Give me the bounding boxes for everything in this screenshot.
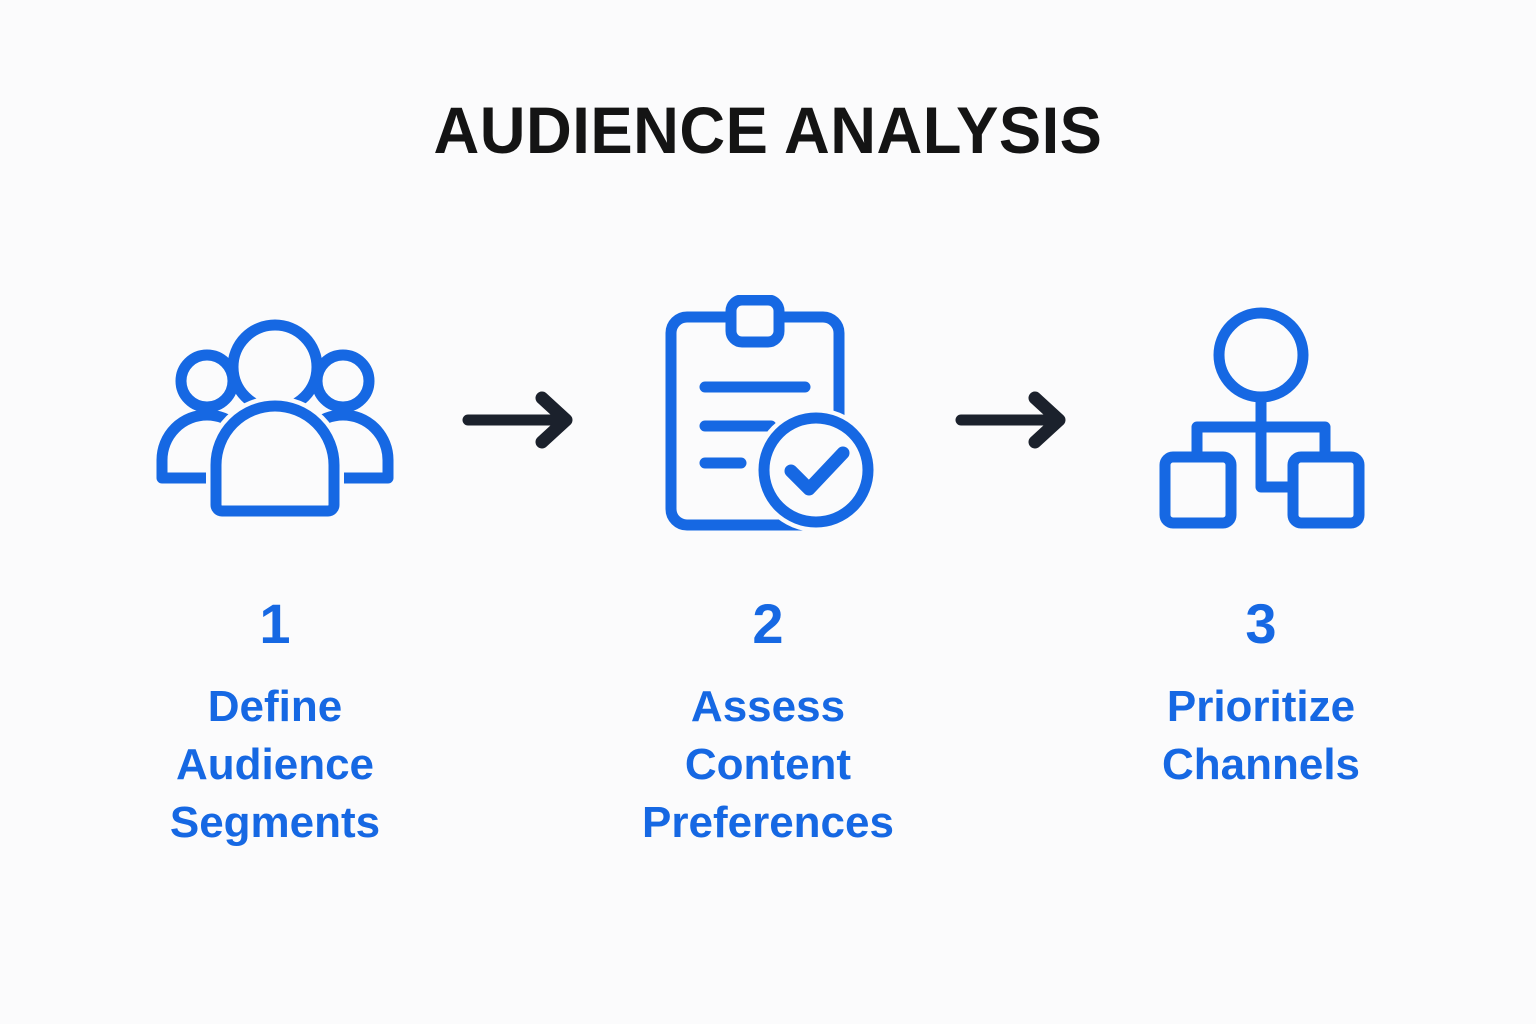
arrow-right-icon [462,390,582,450]
page-title: AUDIENCE ANALYSIS [31,96,1506,165]
people-group-icon [150,315,400,525]
step-3-label: Prioritize Channels [1162,678,1360,794]
connector-1-arrow [457,300,587,540]
connector-2-arrow [950,300,1080,540]
step-1-label: Define Audience Segments [170,678,380,852]
arrow-right-icon [955,390,1075,450]
infographic-canvas: AUDIENCE ANALYSIS [0,0,1536,1024]
process-steps-row: 1 Define Audience Segments [110,300,1426,880]
step-3-number: 3 [1245,596,1276,652]
step-1: 1 Define Audience Segments [110,300,440,852]
step-1-number: 1 [259,596,290,652]
step-2: 2 Assess Content Preferences [603,300,933,852]
step-1-icon [150,300,400,540]
step-3-icon [1136,300,1386,540]
step-3: 3 Prioritize Channels [1096,300,1426,794]
step-2-icon [643,300,893,540]
step-2-label: Assess Content Preferences [642,678,894,852]
clipboard-check-icon [653,295,883,545]
step-2-number: 2 [752,596,783,652]
connector-2 [950,300,1080,540]
hierarchy-chart-icon [1151,305,1371,535]
connector-1 [457,300,587,540]
